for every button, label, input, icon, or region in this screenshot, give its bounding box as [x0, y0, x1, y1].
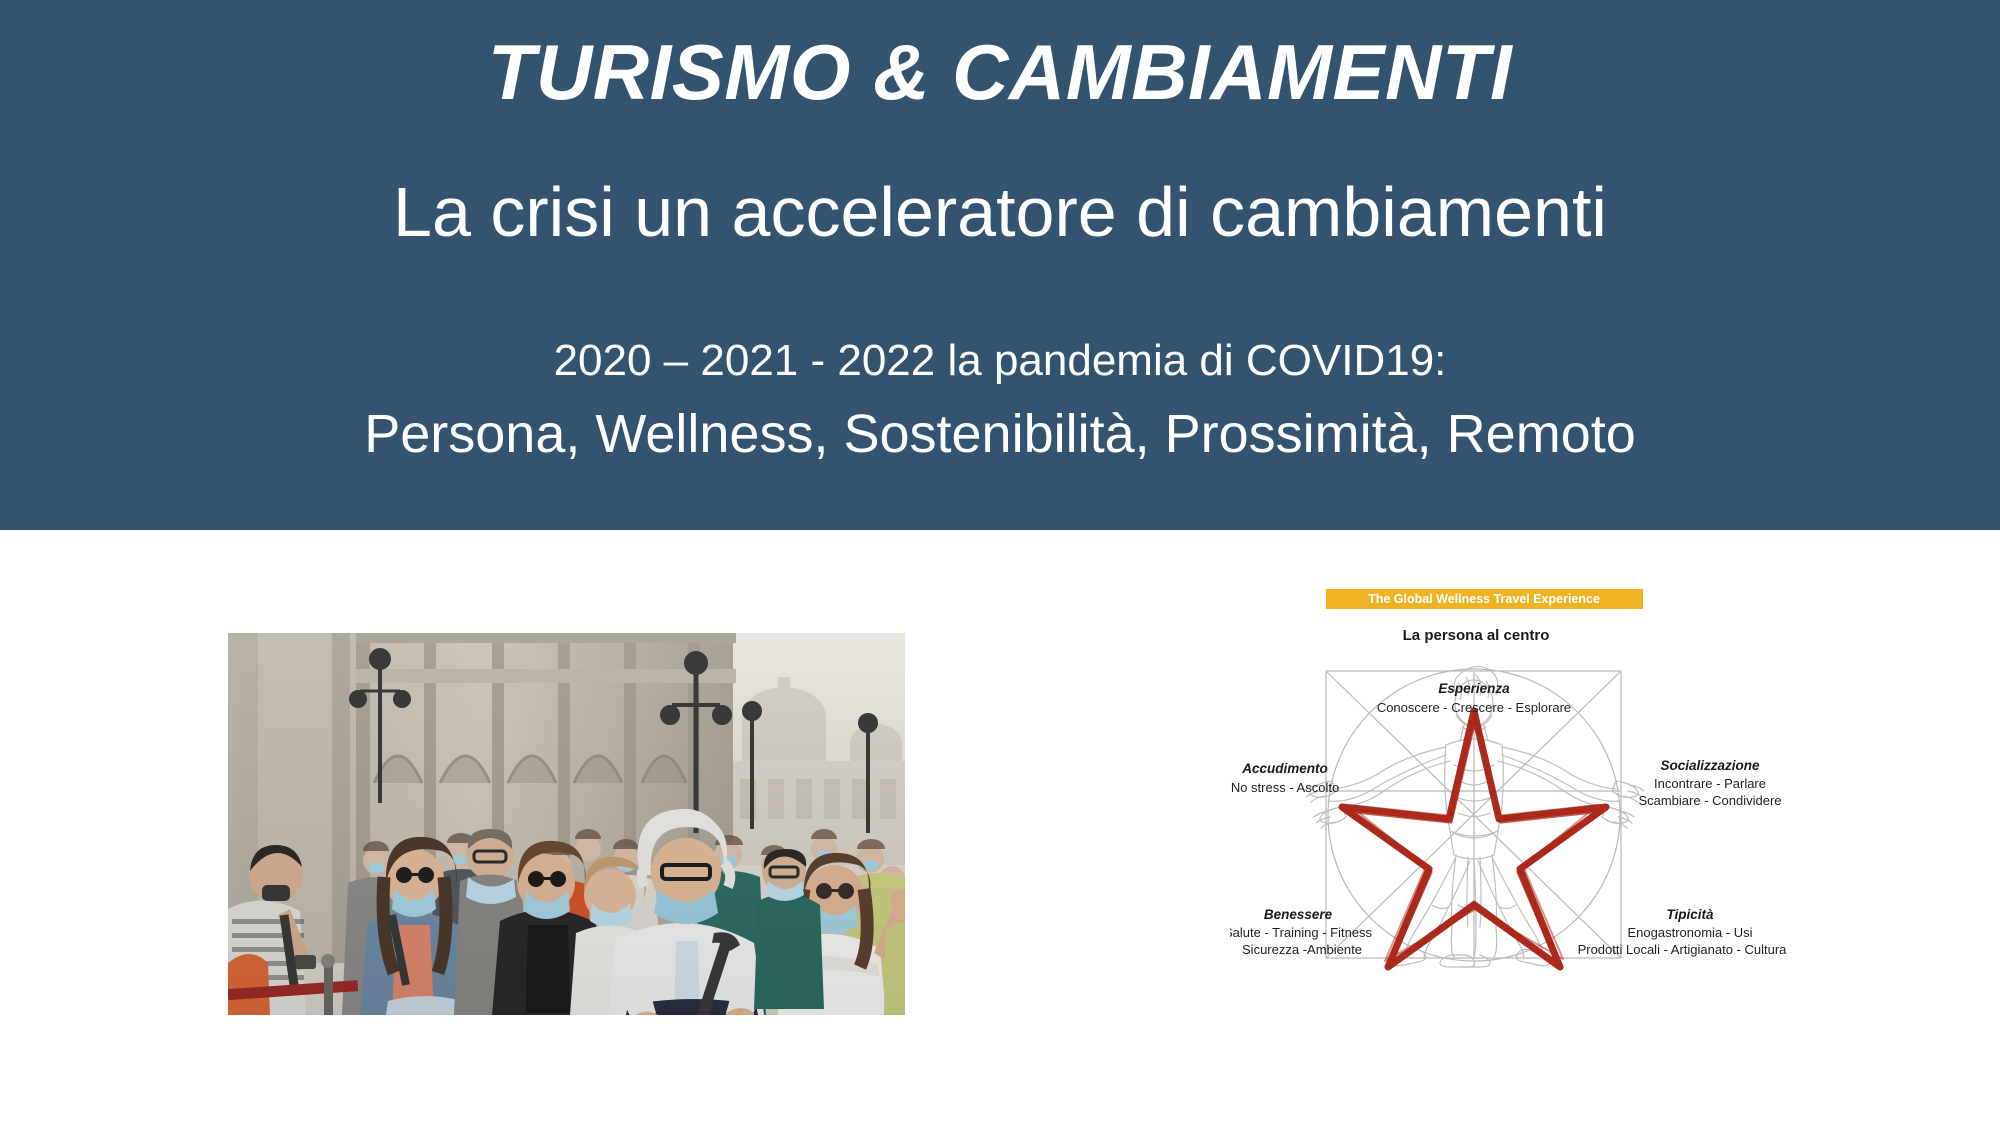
- header-line-pandemic-years: 2020 – 2021 - 2022 la pandemia di COVID1…: [0, 337, 2000, 385]
- wellness-diagram-svg: The Global Wellness Travel Experience La…: [1230, 575, 1830, 1045]
- label-line-accudimento-1: No stress - Ascolto: [1231, 780, 1339, 795]
- diagram-label-socializzazione: Socializzazione Incontrare - Parlare Sca…: [1638, 758, 1781, 808]
- diagram-label-accudimento: Accudimento No stress - Ascolto: [1231, 761, 1339, 795]
- label-line-esperienza-1: Conoscere - Crescere - Esplorare: [1377, 700, 1571, 715]
- crowd-photo-illustration: [228, 633, 905, 1015]
- label-line-tipicita-1: Enogastronomia - Usi: [1628, 925, 1753, 940]
- crowd-photo: [228, 633, 905, 1015]
- slide-header-band: TURISMO & CAMBIAMENTI La crisi un accele…: [0, 0, 2000, 530]
- label-line-socializzazione-1: Incontrare - Parlare: [1654, 776, 1766, 791]
- label-line-socializzazione-2: Scambiare - Condividere: [1638, 793, 1781, 808]
- label-line-tipicita-2: Prodotti Locali - Artigianato - Cultura: [1578, 942, 1788, 957]
- label-heading-tipicita: Tipicità: [1666, 907, 1714, 922]
- diagram-center-caption: La persona al centro: [1403, 627, 1550, 644]
- diagram-label-tipicita: Tipicità Enogastronomia - Usi Prodotti L…: [1578, 907, 1788, 957]
- wellness-diagram: The Global Wellness Travel Experience La…: [1230, 575, 1830, 1045]
- label-heading-esperienza: Esperienza: [1438, 681, 1510, 696]
- label-heading-benessere: Benessere: [1264, 907, 1333, 922]
- page-title: TURISMO & CAMBIAMENTI: [0, 32, 2000, 114]
- diagram-banner-label: The Global Wellness Travel Experience: [1368, 592, 1600, 606]
- label-line-benessere-2: Sicurezza -Ambiente: [1242, 942, 1362, 957]
- label-heading-accudimento: Accudimento: [1241, 761, 1328, 776]
- label-line-benessere-1: Salute - Training - Fitness: [1230, 925, 1373, 940]
- diagram-label-benessere: Benessere Salute - Training - Fitness Si…: [1230, 907, 1373, 957]
- label-heading-socializzazione: Socializzazione: [1660, 758, 1760, 773]
- diagram-banner: The Global Wellness Travel Experience: [1326, 589, 1643, 609]
- page-subtitle: La crisi un acceleratore di cambiamenti: [0, 176, 2000, 250]
- header-line-keywords: Persona, Wellness, Sostenibilità, Prossi…: [0, 405, 2000, 464]
